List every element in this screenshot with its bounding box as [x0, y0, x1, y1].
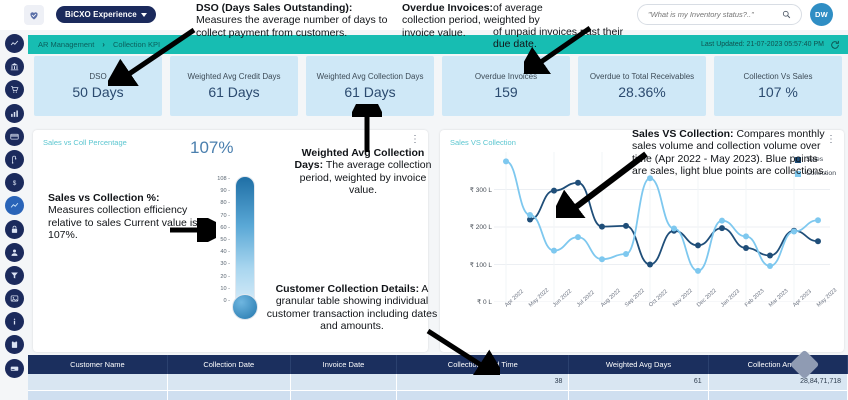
gauge-tick: 60	[220, 225, 230, 231]
sidebar-item-bank[interactable]	[5, 57, 24, 76]
arrow-overdue-invoices	[524, 24, 596, 74]
gauge-tick: 80	[220, 200, 230, 206]
arrow-weighted-avg-collection-days	[352, 104, 382, 154]
search-input[interactable]	[648, 10, 782, 19]
kpi-label: DSO	[89, 72, 106, 81]
arrow-customer-collection-details	[424, 325, 500, 375]
annotation-customer-collection-details: Customer Collection Details: A granular …	[257, 283, 447, 333]
table-row[interactable]	[28, 390, 848, 400]
sidebar-item-analytics[interactable]	[5, 34, 24, 53]
kpi-card-overdue-to-total-receivables[interactable]: Overdue to Total Receivables 28.36%	[578, 56, 706, 116]
y-axis-tick: ₹ 100 L	[470, 261, 492, 269]
gauge-tick: 30	[220, 261, 230, 267]
column-header-customer-name[interactable]: Customer Name	[28, 355, 167, 374]
column-header-weighted-avg-days[interactable]: Weighted Avg Days	[569, 355, 708, 374]
more-options-icon[interactable]: ⋮	[410, 135, 420, 145]
annotation-sales-vs-collection: Sales VS Collection: Compares monthly sa…	[632, 128, 828, 178]
arrow-sales-vs-collection	[556, 148, 652, 218]
cell-collection-amount	[708, 390, 847, 400]
image-icon	[10, 294, 19, 303]
sidebar-item-branch[interactable]	[5, 150, 24, 169]
y-axis-tick: ₹ 200 L	[470, 223, 492, 231]
annotation-title: Sales vs Collection %:	[48, 192, 159, 204]
filter-icon	[10, 271, 19, 280]
brand-selector[interactable]: BiCXO Experience	[56, 6, 156, 23]
gauge-tick: 90	[220, 188, 230, 194]
cart-icon	[10, 85, 19, 94]
sidebar-item-trend[interactable]	[5, 196, 24, 215]
clipboard-icon	[10, 340, 19, 349]
y-axis-tick: ₹ 0 L	[477, 298, 492, 306]
chevron-right-icon: ›	[102, 40, 105, 49]
refresh-icon[interactable]	[830, 40, 840, 50]
annotation-dso: DSO (Days Sales Outstanding): Measures t…	[196, 2, 392, 39]
cell-collection-amount: 28,84,71,718	[708, 374, 847, 390]
gauge-tick: 50	[220, 237, 230, 243]
column-header-collection-date[interactable]: Collection Date	[167, 355, 290, 374]
sidebar-item-card-2[interactable]	[5, 359, 24, 378]
kpi-label: Collection Vs Sales	[744, 72, 813, 81]
gauge-tick: 20	[220, 274, 230, 280]
cell-collection-date	[167, 390, 290, 400]
avatar-initials: DW	[815, 10, 828, 19]
cell-collection-lead-time	[397, 390, 569, 400]
kpi-value: 28.36%	[618, 84, 665, 100]
arrow-dso	[108, 26, 198, 86]
thermometer-bulb	[232, 294, 258, 320]
cell-weighted-avg-days: 61	[569, 374, 708, 390]
gauge-tick: 40	[220, 249, 230, 255]
y-axis-labels: ₹ 0 L₹ 100 L₹ 200 L₹ 300 L	[450, 152, 492, 302]
annotation-title: Customer Collection Details:	[276, 283, 420, 295]
gauge-tick: 0	[223, 298, 230, 304]
search-bar[interactable]	[637, 4, 802, 25]
card-icon	[10, 132, 19, 141]
thermometer-stem	[235, 176, 255, 300]
table-row[interactable]: 38 61 28,84,71,718	[28, 374, 848, 390]
sidebar-item-bar-chart[interactable]	[5, 104, 24, 123]
last-updated-group: Last Updated: 21-07-2023 05:57:40 PM	[701, 40, 848, 50]
cell-weighted-avg-days	[569, 390, 708, 400]
kpi-card-collection-vs-sales[interactable]: Collection Vs Sales 107 %	[714, 56, 842, 116]
bank-icon	[10, 62, 19, 71]
gauge-tick: 10	[220, 286, 230, 292]
cell-invoice-date	[290, 374, 397, 390]
cell-invoice-date	[290, 390, 397, 400]
kpi-value: 107 %	[758, 84, 798, 100]
branch-icon	[10, 155, 19, 164]
kpi-value: 61 Days	[208, 84, 259, 100]
handshake-logo-icon	[28, 9, 40, 21]
kpi-label: Weighted Avg Credit Days	[187, 72, 280, 81]
gauge-tick: 108	[217, 176, 230, 182]
gauge-panel-title: Sales vs Coll Percentage	[43, 138, 127, 147]
last-updated-text: Last Updated: 21-07-2023 05:57:40 PM	[701, 41, 824, 48]
card-2-icon	[10, 364, 19, 373]
app-logo[interactable]	[24, 5, 44, 25]
sidebar-item-clipboard[interactable]	[5, 335, 24, 354]
sidebar-item-image[interactable]	[5, 289, 24, 308]
search-icon[interactable]	[782, 10, 791, 19]
x-axis-labels: Apr 2022May 2022Jun 2022Jul 2022Aug 2022…	[494, 304, 830, 346]
column-header-invoice-date[interactable]: Invoice Date	[290, 355, 397, 374]
cell-customer-name	[28, 390, 167, 400]
kpi-value: 61 Days	[344, 84, 395, 100]
annotation-title: Overdue Invoices:	[402, 2, 493, 14]
kpi-label: Weighted Avg Collection Days	[317, 72, 424, 81]
sidebar-rail: $	[0, 30, 28, 400]
dollar-icon: $	[10, 178, 19, 187]
info-icon	[10, 317, 19, 326]
breadcrumb-parent[interactable]: AR Management	[38, 40, 94, 49]
trend-icon	[10, 201, 19, 210]
arrow-sales-vs-collection-pct	[168, 218, 216, 242]
analytics-icon	[10, 39, 19, 48]
bar-chart-icon	[10, 109, 19, 118]
lock-icon	[10, 225, 19, 234]
annotation-weighted-avg-collection-days: Weighted Avg Collection Days: The averag…	[288, 147, 438, 197]
sidebar-item-dollar[interactable]: $	[5, 173, 24, 192]
kpi-value: 159	[494, 84, 517, 100]
annotation-title: Sales VS Collection:	[632, 128, 734, 140]
column-header-collection-amount[interactable]: Collection Amount	[708, 355, 847, 374]
user-icon	[10, 248, 19, 257]
sidebar-item-filter[interactable]	[5, 266, 24, 285]
user-avatar[interactable]: DW	[810, 3, 833, 26]
cell-customer-name	[28, 374, 167, 390]
sidebar-item-cart[interactable]	[5, 80, 24, 99]
cell-collection-lead-time: 38	[397, 374, 569, 390]
y-axis-tick: ₹ 300 L	[470, 186, 492, 194]
sidebar-item-lock[interactable]	[5, 220, 24, 239]
dashboard-root: BiCXO Experience DW $	[0, 0, 848, 400]
cell-collection-date	[167, 374, 290, 390]
annotation-title: DSO (Days Sales Outstanding):	[196, 2, 352, 14]
brand-label: BiCXO Experience	[65, 10, 137, 19]
gauge-value-label: 107%	[190, 138, 233, 158]
thermometer-gauge	[232, 176, 258, 322]
sidebar-item-info[interactable]	[5, 312, 24, 331]
annotation-body: Measures the average number of days to c…	[196, 14, 387, 38]
gauge-tick: 70	[220, 213, 230, 219]
kpi-value: 50 Days	[72, 84, 123, 100]
sidebar-item-card[interactable]	[5, 127, 24, 146]
sidebar-item-user[interactable]	[5, 243, 24, 262]
svg-text:$: $	[12, 180, 16, 187]
chevron-down-icon	[141, 13, 147, 17]
line-panel-title: Sales VS Collection	[450, 138, 516, 147]
kpi-label: Overdue to Total Receivables	[590, 72, 694, 81]
